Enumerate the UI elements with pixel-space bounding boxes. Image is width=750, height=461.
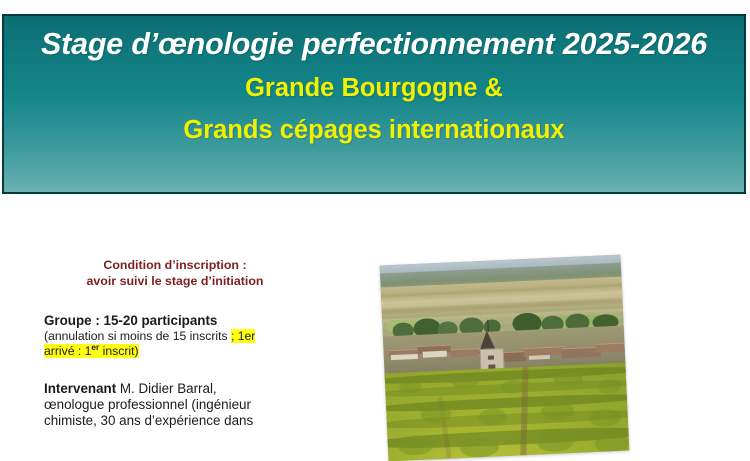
groupe-note-highlight-b-text: arrivé : 1 (44, 344, 91, 358)
groupe-note-plain: (annulation si moins de 15 inscrits (44, 329, 231, 343)
groupe-note-highlight-c: inscrit) (99, 344, 138, 358)
groupe-note-highlight-a: ; 1er (231, 329, 255, 343)
banner-subtitle-line2: Grands cépages internationaux (183, 115, 564, 146)
banner-title-main: Stage d’œnologie perfectionnement 2025-2… (41, 27, 707, 62)
photo-vineyard (385, 362, 630, 461)
page-content: Condition d’inscription : avoir suivi le… (0, 196, 750, 443)
intervenant-line-2: œnologue professionnel (ingénieur (44, 397, 251, 412)
title-banner-inner: Stage d’œnologie perfectionnement 2025-2… (4, 16, 744, 192)
intervenant-paragraph: Intervenant M. Didier Barral, œnologue p… (44, 381, 332, 430)
vineyard-photo-canvas (380, 255, 630, 461)
title-banner: Stage d’œnologie perfectionnement 2025-2… (2, 14, 746, 194)
groupe-paragraph: Groupe : 15-20 participants (annulation … (44, 313, 332, 360)
condition-inscription-block: Condition d’inscription : avoir suivi le… (50, 258, 300, 290)
intervenant-line-1: M. Didier Barral, (116, 381, 216, 396)
vineyard-photo (380, 255, 630, 461)
groupe-note-highlight-b: arrivé : 1er inscrit) (44, 344, 139, 358)
groupe-label: Groupe : 15-20 participants (44, 313, 217, 328)
intervenant-line-3: chimiste, 30 ans d’expérience dans (44, 413, 253, 428)
condition-line-2: avoir suivi le stage d’initiation (50, 274, 300, 290)
condition-line-1: Condition d’inscription : (103, 258, 246, 272)
banner-subtitle-line1: Grande Bourgogne & (245, 73, 503, 104)
intervenant-label: Intervenant (44, 381, 116, 396)
text-column: Condition d’inscription : avoir suivi le… (44, 258, 332, 430)
groupe-note: (annulation si moins de 15 inscrits ; 1e… (44, 329, 332, 360)
